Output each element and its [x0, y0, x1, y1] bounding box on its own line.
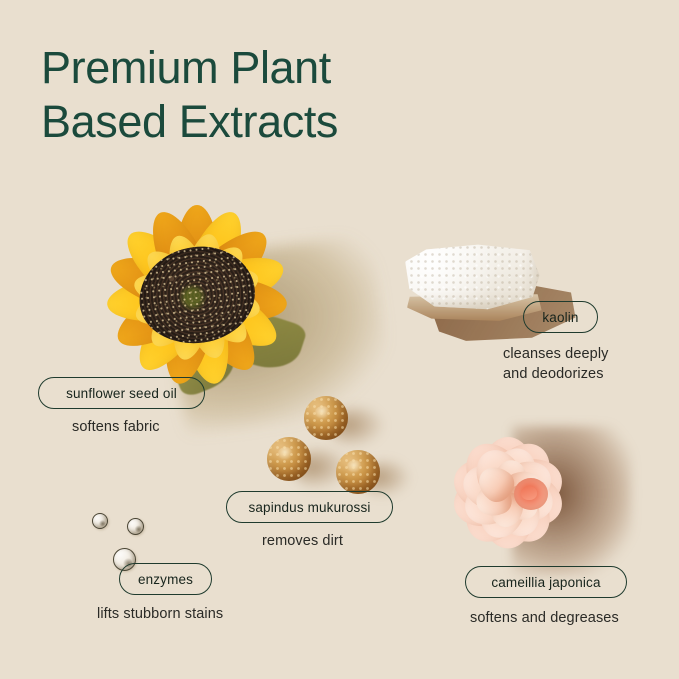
label-text: cameillia japonica — [491, 575, 600, 590]
caption-enzymes: lifts stubborn stains — [97, 605, 223, 625]
label-pill-kaolin: kaolin — [523, 301, 598, 333]
camellia-inner-petals — [432, 412, 584, 570]
soap-nut — [304, 396, 348, 440]
sunflower-bloom — [78, 195, 316, 395]
enzyme-granule — [127, 518, 144, 535]
caption-cameillia-japonica: softens and degreases — [470, 609, 619, 629]
enzyme-granule — [92, 513, 108, 529]
label-text: sunflower seed oil — [66, 386, 177, 401]
caption-sunflower-seed-oil: softens fabric — [72, 418, 160, 438]
caption-sapindus-mukurossi: removes dirt — [262, 532, 343, 552]
product-ingredients-poster: Premium Plant Based Extracts — [0, 0, 679, 679]
label-pill-sunflower-seed-oil: sunflower seed oil — [38, 377, 205, 409]
camellia-center — [514, 478, 548, 510]
soap-nuts-image — [265, 390, 405, 500]
caption-kaolin: cleanses deeply and deodorizes — [503, 345, 609, 384]
soap-nut — [267, 437, 311, 481]
label-pill-cameillia-japonica: cameillia japonica — [465, 566, 627, 598]
label-text: enzymes — [138, 572, 193, 587]
enzyme-granules-image — [80, 500, 170, 570]
camellia-flower-image — [432, 412, 632, 577]
label-pill-enzymes: enzymes — [119, 563, 212, 595]
label-text: kaolin — [542, 310, 578, 325]
label-text: sapindus mukurossi — [248, 500, 370, 515]
label-pill-sapindus-mukurossi: sapindus mukurossi — [226, 491, 393, 523]
soap-nut — [336, 450, 380, 494]
page-title: Premium Plant Based Extracts — [41, 41, 601, 150]
